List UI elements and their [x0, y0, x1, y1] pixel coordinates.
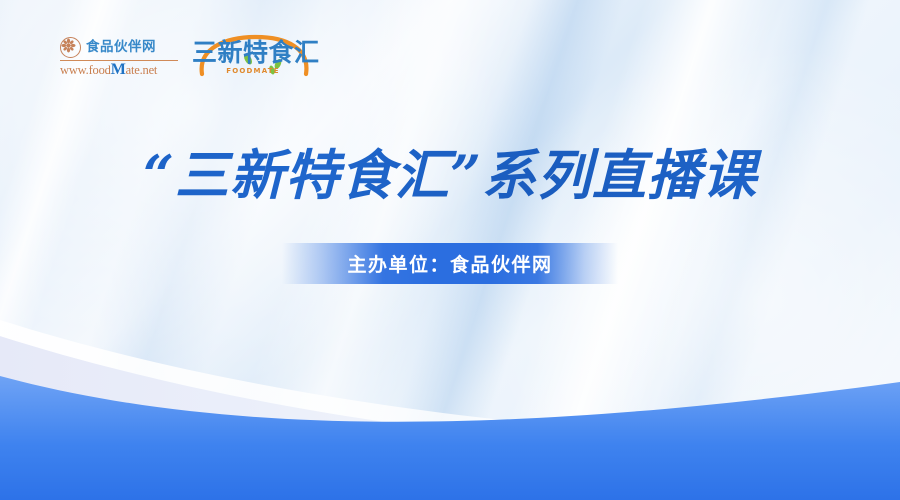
- foodmate-url-prefix: www.food: [60, 63, 111, 77]
- sanxin-logo-title: 三新特食汇: [192, 40, 314, 65]
- page-title: “三新特食汇”系列直播课: [0, 146, 900, 204]
- foodmate-chinese-name: 食品伙伴网: [86, 41, 156, 55]
- foodmate-url: www.foodMate.net: [60, 62, 178, 79]
- poster-canvas: 食品伙伴网 www.foodMate.net 三新特食汇 FOODMATE “三…: [0, 0, 900, 500]
- foodmate-logo-top: 食品伙伴网: [60, 37, 178, 58]
- logo-bar: 食品伙伴网 www.foodMate.net 三新特食汇 FOODMATE: [60, 34, 314, 82]
- foodmate-logo[interactable]: 食品伙伴网 www.foodMate.net: [60, 37, 178, 79]
- organizer-banner: 主办单位：食品伙伴网: [282, 243, 618, 284]
- foodmate-url-highlight: M: [111, 61, 126, 78]
- sanxin-logo-subtitle: FOODMATE: [192, 67, 314, 75]
- foodmate-url-suffix: ate.net: [126, 63, 158, 77]
- bottom-blue-wave: [0, 310, 900, 500]
- foodmate-flower-emblem-icon: [60, 37, 81, 58]
- sanxin-logo[interactable]: 三新特食汇 FOODMATE: [192, 34, 314, 82]
- organizer-label: 主办单位：食品伙伴网: [347, 250, 552, 277]
